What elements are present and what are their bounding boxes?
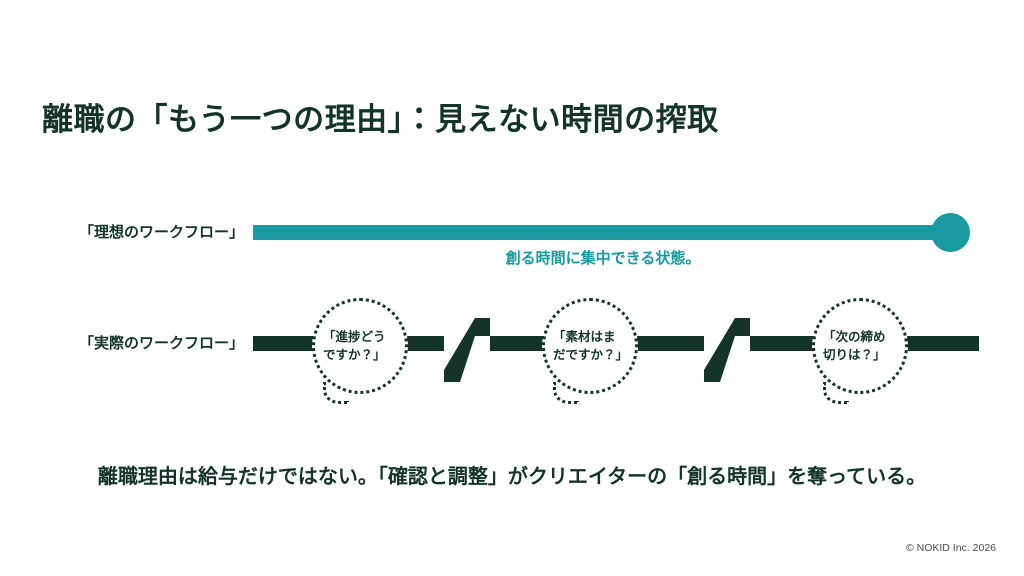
summary-statement: 離職理由は給与だけではない。「確認と調整」がクリエイターの「創る時間」を奪ってい… bbox=[0, 460, 1024, 489]
footer-copyright: © NOKID Inc. 2026 bbox=[906, 542, 996, 554]
ideal-workflow-label: 「理想のワークフロー」 bbox=[44, 225, 244, 240]
list-item[interactable]: 「素材はまだですか？」 bbox=[542, 298, 638, 394]
slide-canvas: 離職の「もう一つの理由」：見えない時間の搾取 「理想のワークフロー」 創る時間に… bbox=[0, 0, 1024, 576]
speech-bubble-icon: 「進捗どうですか？」 bbox=[323, 328, 397, 364]
page-title: 離職の「もう一つの理由」：見えない時間の搾取 bbox=[42, 101, 719, 138]
speech-bubble-icon: 「次の締め切りは？」 bbox=[823, 328, 897, 364]
speech-bubble-tail-icon bbox=[553, 382, 579, 404]
list-item[interactable]: 「次の締め切りは？」 bbox=[812, 298, 908, 394]
list-item[interactable]: 「進捗どうですか？」 bbox=[312, 298, 408, 394]
zigzag-disruption-icon bbox=[689, 318, 784, 382]
speech-bubble-icon: 「素材はまだですか？」 bbox=[553, 328, 627, 364]
ideal-workflow-caption: 創る時間に集中できる状態。 bbox=[253, 247, 953, 268]
speech-bubble-tail-icon bbox=[823, 382, 849, 404]
zigzag-disruption-icon bbox=[429, 318, 524, 382]
speech-bubble-tail-icon bbox=[323, 382, 349, 404]
actual-workflow-label: 「実際のワークフロー」 bbox=[44, 336, 244, 351]
ideal-workflow-line bbox=[253, 225, 953, 240]
